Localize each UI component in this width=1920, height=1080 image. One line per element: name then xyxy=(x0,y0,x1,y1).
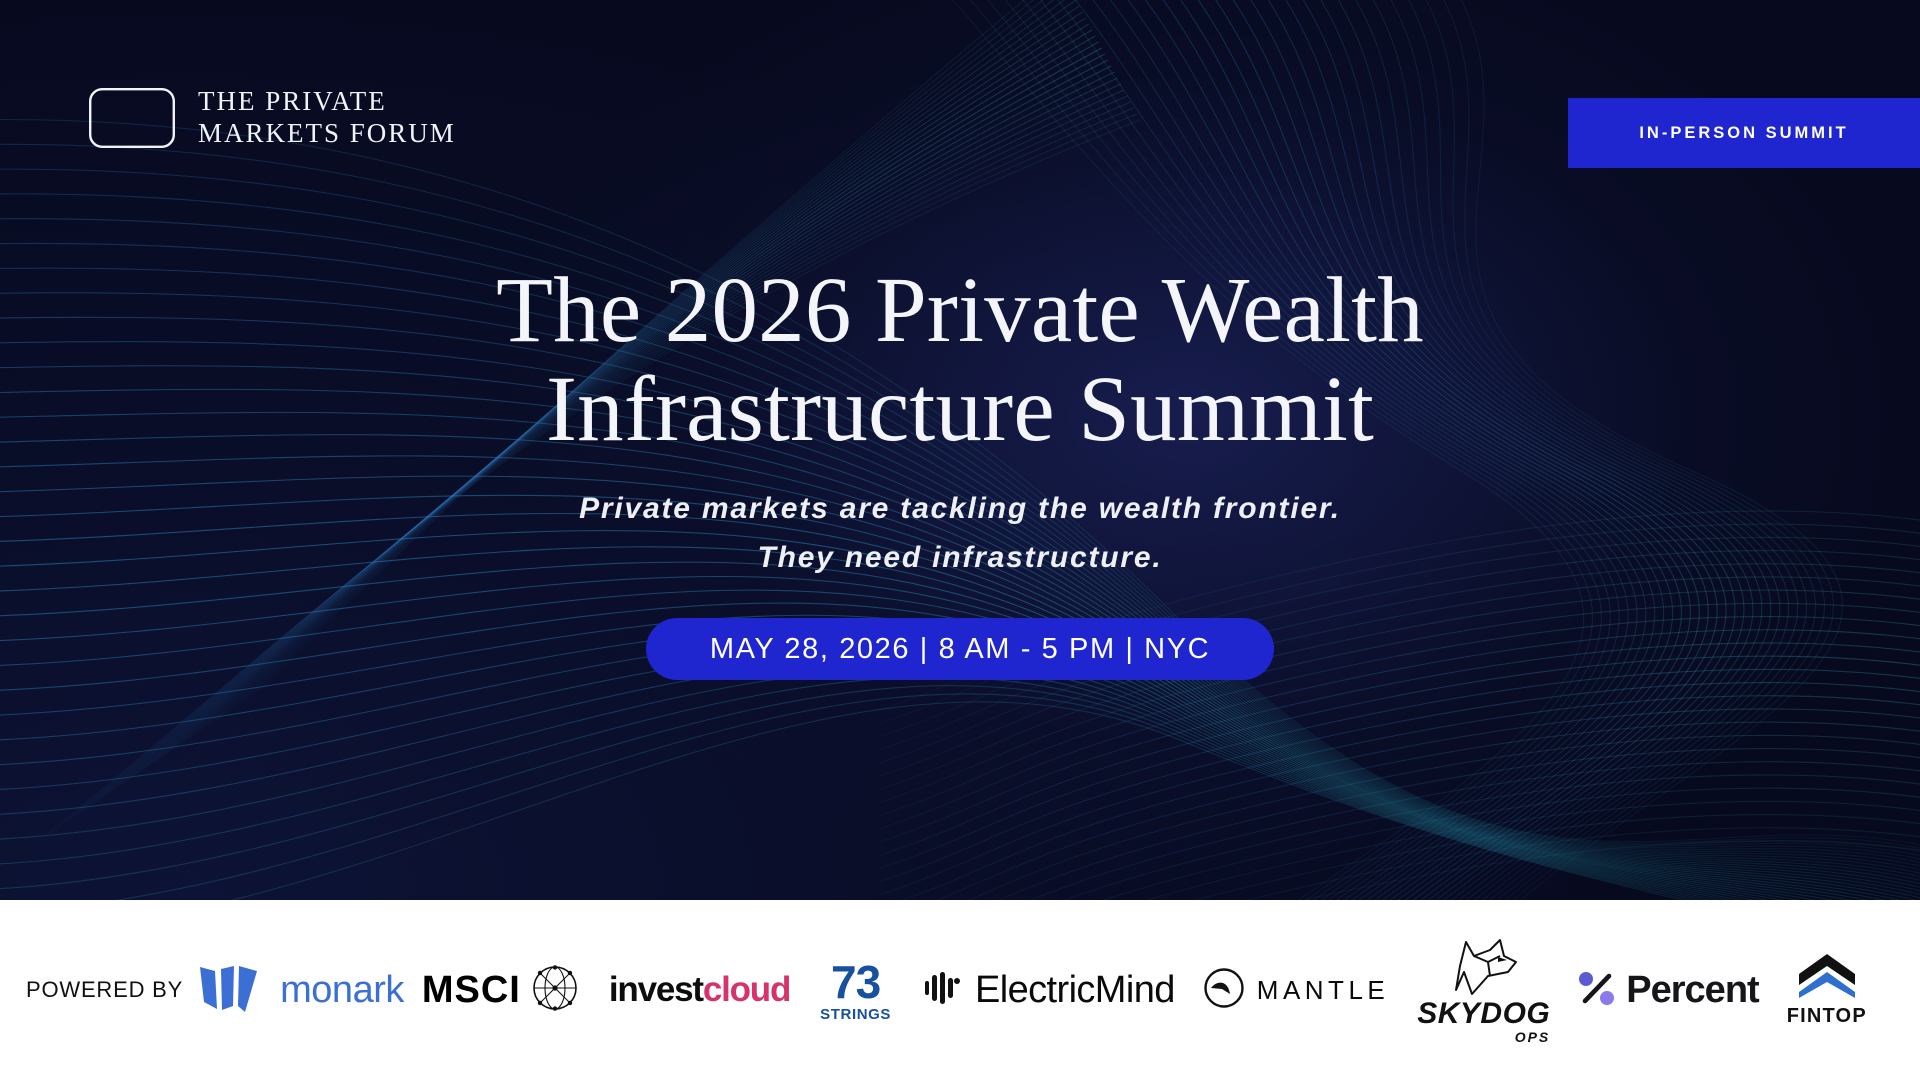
electricmind-wordmark: ElectricMind xyxy=(975,969,1175,1012)
sponsor-logo-fintop[interactable]: FINTOP xyxy=(1787,952,1867,1028)
skydog-ops-wordmark: OPS xyxy=(1515,1029,1551,1045)
monark-chevrons-icon xyxy=(197,962,271,1019)
sponsor-logo-mantle[interactable]: MANTLE xyxy=(1203,967,1389,1014)
msci-globe-icon xyxy=(531,964,579,1017)
sponsor-logo-msci[interactable]: MSCI xyxy=(422,964,579,1017)
electricmind-waveform-icon xyxy=(919,966,963,1015)
hero-subtitle: Private markets are tackling the wealth … xyxy=(579,485,1341,582)
sponsor-logo-skydog-ops[interactable]: SKYDOG OPS xyxy=(1417,936,1550,1045)
badge-label: IN-PERSON SUMMIT xyxy=(1639,124,1848,143)
skydog-wordmark: SKYDOG xyxy=(1417,997,1550,1031)
sponsor-logo-percent[interactable]: Percent xyxy=(1576,967,1758,1014)
sponsor-logo-electricmind[interactable]: ElectricMind xyxy=(919,966,1175,1015)
mantle-circle-icon xyxy=(1203,967,1245,1014)
sponsor-logo-bar: POWERED BY monark MSCI xyxy=(0,900,1920,1080)
msci-wordmark: MSCI xyxy=(422,969,521,1012)
skydog-wolf-head-icon xyxy=(1438,936,1530,1003)
hero-subtitle-line-1: Private markets are tackling the wealth … xyxy=(579,485,1341,534)
percent-symbol-icon xyxy=(1576,967,1618,1014)
sponsor-logo-monark[interactable]: monark xyxy=(197,962,404,1019)
investcloud-wordmark-cloud: cloud xyxy=(703,970,790,1010)
hero-banner: THE PRIVATE MARKETS FORUM IN-PERSON SUMM… xyxy=(0,0,1920,900)
brand-lockup[interactable]: THE PRIVATE MARKETS FORUM xyxy=(88,86,456,150)
event-date-button[interactable]: MAY 28, 2026 | 8 AM - 5 PM | NYC xyxy=(646,618,1274,680)
sponsor-logo-investcloud[interactable]: investcloud xyxy=(609,970,790,1010)
in-person-summit-badge[interactable]: IN-PERSON SUMMIT xyxy=(1568,98,1920,168)
sponsor-strip: POWERED BY monark MSCI xyxy=(0,936,1920,1045)
brand-mark-icon xyxy=(88,87,176,149)
monark-wordmark: monark xyxy=(280,969,404,1012)
percent-wordmark: Percent xyxy=(1626,969,1758,1012)
73strings-wordmark: STRINGS xyxy=(820,1007,891,1022)
hero-subtitle-line-2: They need infrastructure. xyxy=(579,534,1341,583)
mantle-wordmark: MANTLE xyxy=(1257,975,1389,1006)
sponsor-logo-73-strings[interactable]: 73 STRINGS xyxy=(820,959,891,1022)
powered-by-label: POWERED BY xyxy=(26,977,183,1003)
hero-content: The 2026 Private Wealth Infrastructure S… xyxy=(0,262,1920,680)
fintop-wordmark: FINTOP xyxy=(1787,1005,1867,1028)
page-title: The 2026 Private Wealth Infrastructure S… xyxy=(370,262,1550,459)
brand-name: THE PRIVATE MARKETS FORUM xyxy=(198,86,456,150)
investcloud-wordmark-invest: invest xyxy=(609,970,703,1010)
73strings-number: 73 xyxy=(831,959,880,1005)
fintop-chevrons-icon xyxy=(1795,952,1859,1003)
